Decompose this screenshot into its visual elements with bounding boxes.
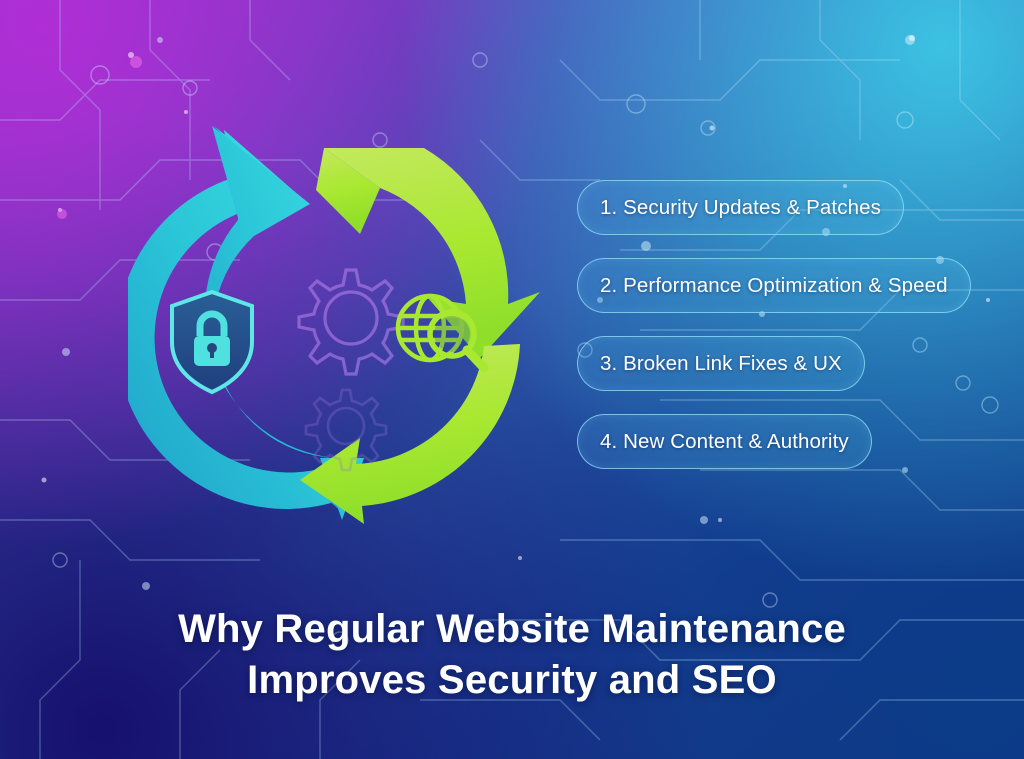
- maintenance-cycle-diagram: [128, 108, 564, 544]
- list-item-3-label: 3. Broken Link Fixes & UX: [600, 352, 842, 376]
- list-item-1-label: 1. Security Updates & Patches: [600, 196, 881, 220]
- page-title: Why Regular Website Maintenance Improves…: [0, 604, 1024, 706]
- list-item-2[interactable]: 2. Performance Optimization & Speed: [577, 258, 971, 313]
- maintenance-benefits-list: 1. Security Updates & Patches 2. Perform…: [577, 180, 977, 469]
- list-item-4-label: 4. New Content & Authority: [600, 430, 849, 454]
- infographic-poster: 1. Security Updates & Patches 2. Perform…: [0, 0, 1024, 759]
- gear-icon-large: [299, 270, 403, 374]
- list-item-2-label: 2. Performance Optimization & Speed: [600, 274, 948, 298]
- page-title-line-1: Why Regular Website Maintenance: [0, 604, 1024, 655]
- list-item-3[interactable]: 3. Broken Link Fixes & UX: [577, 336, 865, 391]
- shield-lock-icon: [172, 292, 252, 392]
- green-cycle-arrow: [300, 148, 540, 524]
- list-item-4[interactable]: 4. New Content & Authority: [577, 414, 872, 469]
- list-item-1[interactable]: 1. Security Updates & Patches: [577, 180, 904, 235]
- page-title-line-2: Improves Security and SEO: [0, 655, 1024, 706]
